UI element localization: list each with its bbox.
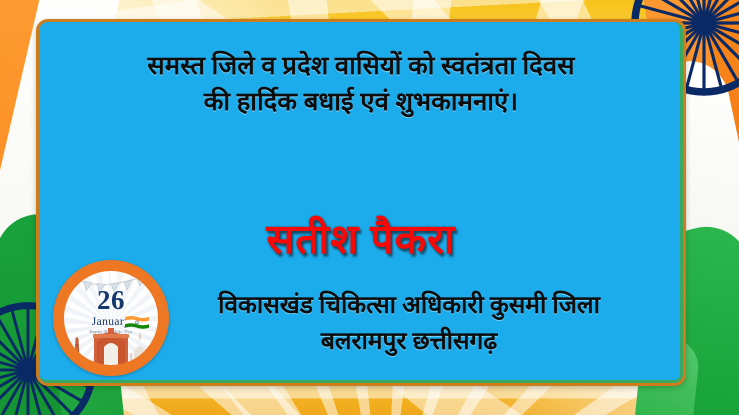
india-gate-icon bbox=[64, 323, 158, 365]
sender-designation: विकासखंड चिकित्सा अधिकारी कुसमी जिला बलर… bbox=[157, 288, 661, 359]
designation-line-2: बलरामपुर छत्तीसगढ़ bbox=[157, 324, 661, 360]
greeting-poster: समस्त जिले व प्रदेश वासियों को स्वतंत्रत… bbox=[0, 0, 739, 415]
designation-line-1: विकासखंड चिकित्सा अधिकारी कुसमी जिला bbox=[157, 288, 661, 324]
badge-day-number: 26 bbox=[64, 287, 158, 314]
republic-day-badge: 26 January Happy Republic Day bbox=[53, 260, 169, 376]
badge-face: 26 January Happy Republic Day bbox=[64, 271, 158, 365]
greeting-message: समस्त जिले व प्रदेश वासियों को स्वतंत्रत… bbox=[39, 48, 683, 120]
sender-name: सतीश पैकरा bbox=[39, 218, 683, 261]
greeting-card: समस्त जिले व प्रदेश वासियों को स्वतंत्रत… bbox=[36, 19, 686, 386]
greeting-line-1: समस्त जिले व प्रदेश वासियों को स्वतंत्रत… bbox=[55, 48, 667, 84]
greeting-line-2: की हार्दिक बधाई एवं शुभकामनाएं। bbox=[55, 84, 667, 120]
